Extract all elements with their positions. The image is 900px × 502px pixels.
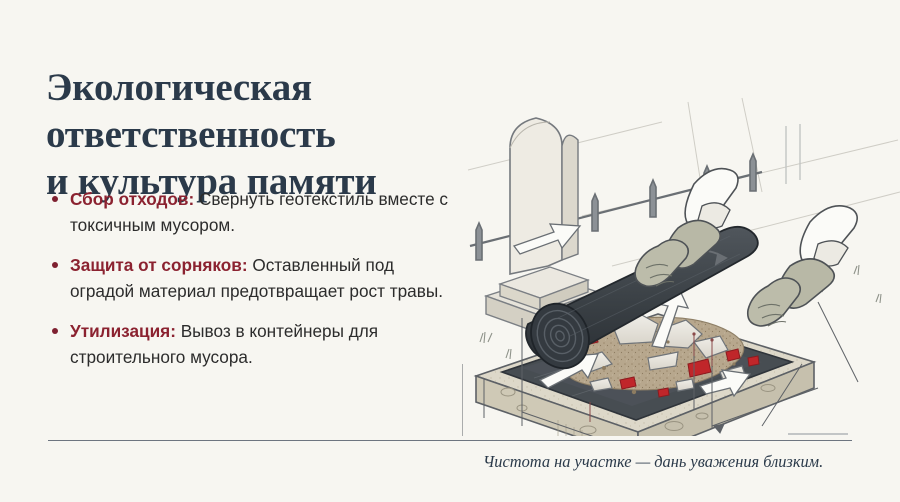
title-line-1: Экологическая ответственность [46,66,336,156]
footer-divider [48,440,852,441]
bullet-lead: Утилизация: [70,321,176,341]
list-item: Утилизация: Вывоз в контейнеры для строи… [48,318,460,370]
slide-root: Экологическая ответственность и культура… [0,0,900,502]
illustration-geotextile-removal [462,96,900,436]
bullet-dot-icon [52,328,58,334]
footer-caption: Чистота на участке — дань уважения близк… [483,452,853,472]
bullet-list: Сбор отходов: Свернуть геотекстиль вмест… [48,186,460,370]
bullet-lead: Сбор отходов: [70,189,194,209]
page-title: Экологическая ответственность и культура… [46,64,516,205]
list-item: Защита от сорняков: Оставленный под огра… [48,252,460,304]
bullet-lead: Защита от сорняков: [70,255,248,275]
list-item: Сбор отходов: Свернуть геотекстиль вмест… [48,186,460,238]
bullet-dot-icon [52,262,58,268]
bullet-dot-icon [52,196,58,202]
